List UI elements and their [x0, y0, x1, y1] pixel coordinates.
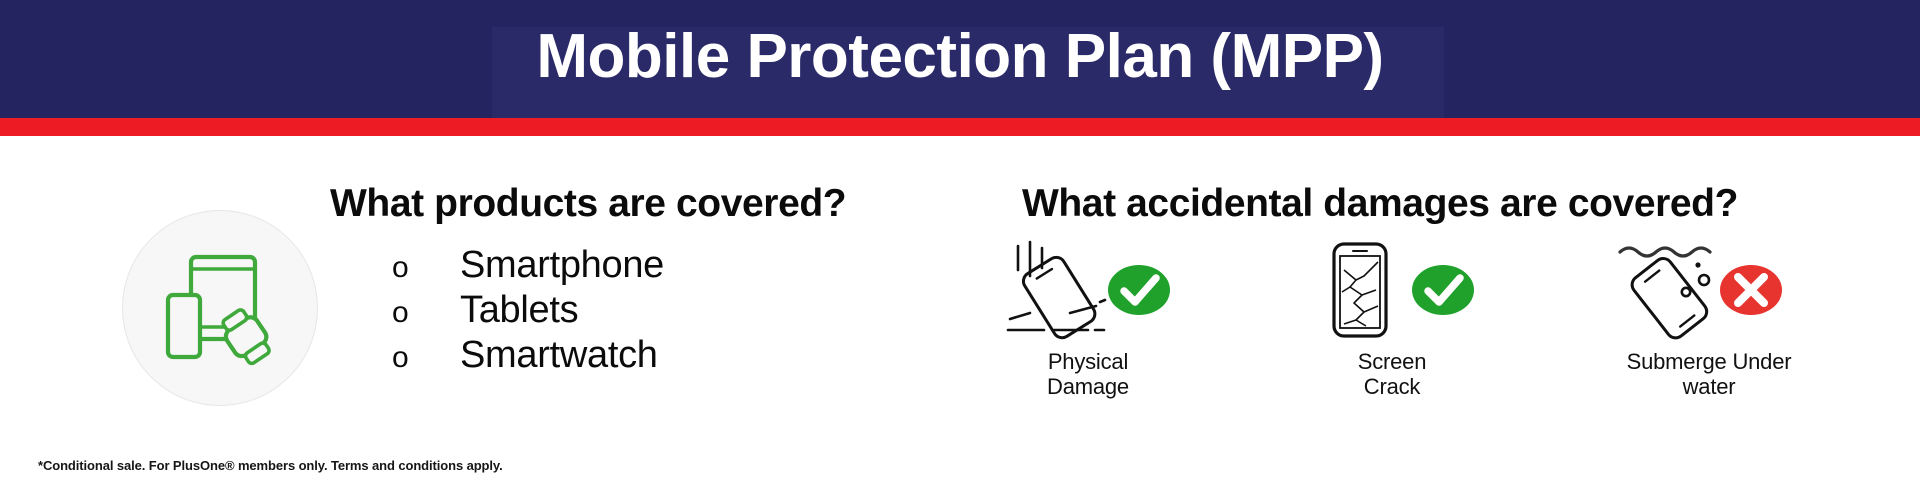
footer-disclaimer: *Conditional sale. For PlusOne® members …: [38, 458, 503, 473]
list-item: o Tablets: [372, 289, 932, 334]
header-red-stripe: [0, 118, 1920, 136]
damage-label-line2: water: [1683, 374, 1736, 399]
bullet-marker: o: [372, 296, 460, 330]
damage-label-line2: Crack: [1364, 374, 1420, 399]
damage-label-line1: Submerge Under: [1627, 349, 1792, 374]
damage-label: Physical Damage: [1000, 350, 1176, 399]
damages-list: Physical Damage: [1000, 240, 1880, 470]
header-banner: Mobile Protection Plan (MPP): [0, 0, 1920, 118]
devices-icon: [151, 239, 291, 379]
list-item: o Smartphone: [372, 244, 932, 289]
page-title: Mobile Protection Plan (MPP): [0, 0, 1920, 118]
bullet-marker: o: [372, 251, 460, 285]
damage-label-line2: Damage: [1047, 374, 1129, 399]
product-label: Smartwatch: [460, 334, 658, 377]
products-list: o Smartphone o Tablets o Smartwatch: [372, 244, 932, 379]
bullet-marker: o: [372, 341, 460, 375]
product-label: Smartphone: [460, 244, 664, 287]
product-label: Tablets: [460, 289, 578, 332]
check-badge-icon: [1106, 263, 1172, 317]
products-heading: What products are covered?: [330, 182, 910, 226]
damage-label: Submerge Under water: [1602, 350, 1816, 399]
damage-item-physical-damage: Physical Damage: [1000, 240, 1220, 470]
damage-label-line1: Screen: [1358, 349, 1427, 374]
damage-label: Screen Crack: [1304, 350, 1480, 399]
falling-phone-icon: [1000, 240, 1112, 340]
mpp-infographic: Mobile Protection Plan (MPP): [0, 0, 1920, 500]
devices-icon-circle: [122, 210, 318, 406]
submerged-phone-icon: [1612, 240, 1724, 340]
content-area: What products are covered? o Smartphone …: [0, 136, 1920, 500]
cross-badge-icon: [1718, 263, 1784, 317]
damage-art: [1304, 240, 1524, 340]
damage-item-screen-crack: Screen Crack: [1304, 240, 1524, 470]
damage-label-line1: Physical: [1048, 349, 1128, 374]
damage-art: [1000, 240, 1220, 340]
products-section: What products are covered? o Smartphone …: [0, 136, 960, 500]
damages-heading: What accidental damages are covered?: [840, 182, 1920, 226]
damage-item-submerge-under-water: Submerge Under water: [1608, 240, 1828, 470]
list-item: o Smartwatch: [372, 334, 932, 379]
damage-art: [1612, 240, 1828, 340]
cracked-screen-icon: [1304, 240, 1416, 340]
check-badge-icon: [1410, 263, 1476, 317]
damages-section: What accidental damages are covered?: [960, 136, 1920, 500]
